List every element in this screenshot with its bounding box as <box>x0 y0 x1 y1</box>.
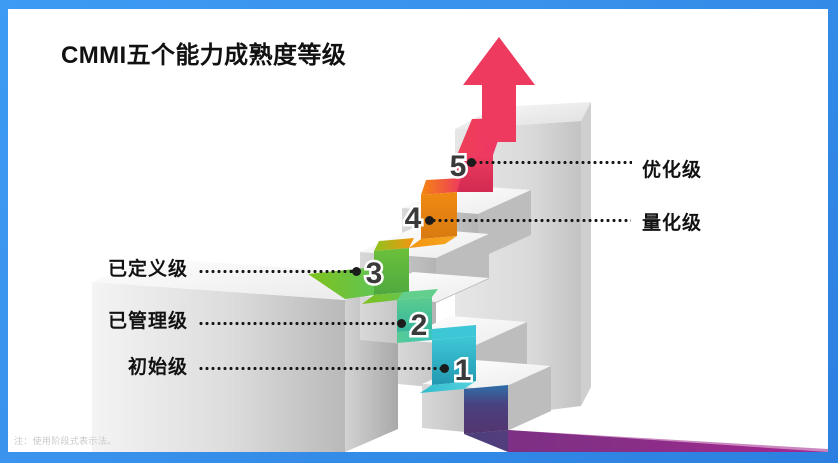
leader-dot-5 <box>467 158 476 167</box>
svg-text:4: 4 <box>405 202 422 235</box>
footnote-text: 注：使用阶段式表示法。 <box>14 434 116 447</box>
maturity-staircase-diagram: 5 4 3 2 1 <box>8 9 828 452</box>
leader-line-4 <box>431 219 631 222</box>
svg-text:1: 1 <box>455 354 472 387</box>
leader-dot-4 <box>425 216 434 225</box>
slide-canvas: CMMI五个能力成熟度等级 <box>8 9 828 452</box>
leader-dot-1 <box>440 364 449 373</box>
step-number-1: 1 <box>455 354 472 387</box>
level-label-5: 优化级 <box>642 155 702 182</box>
level-label-1: 初始级 <box>92 352 188 379</box>
leader-dot-3 <box>352 267 361 276</box>
leader-line-5 <box>472 161 632 164</box>
step-number-4: 4 <box>405 202 422 235</box>
svg-text:2: 2 <box>411 309 428 342</box>
leader-line-3 <box>198 270 355 273</box>
step-number-2: 2 <box>411 309 428 342</box>
slide-frame: CMMI五个能力成熟度等级 <box>0 0 838 463</box>
leader-dot-2 <box>397 319 406 328</box>
leader-line-1 <box>198 367 443 370</box>
svg-text:3: 3 <box>366 257 383 290</box>
step-number-5: 5 <box>450 150 467 183</box>
level-label-2: 已管理级 <box>92 306 188 333</box>
level-label-3: 已定义级 <box>92 254 188 281</box>
step-number-3: 3 <box>366 257 383 290</box>
level-label-4: 量化级 <box>642 208 702 235</box>
svg-text:5: 5 <box>450 150 467 183</box>
leader-line-2 <box>198 322 400 325</box>
